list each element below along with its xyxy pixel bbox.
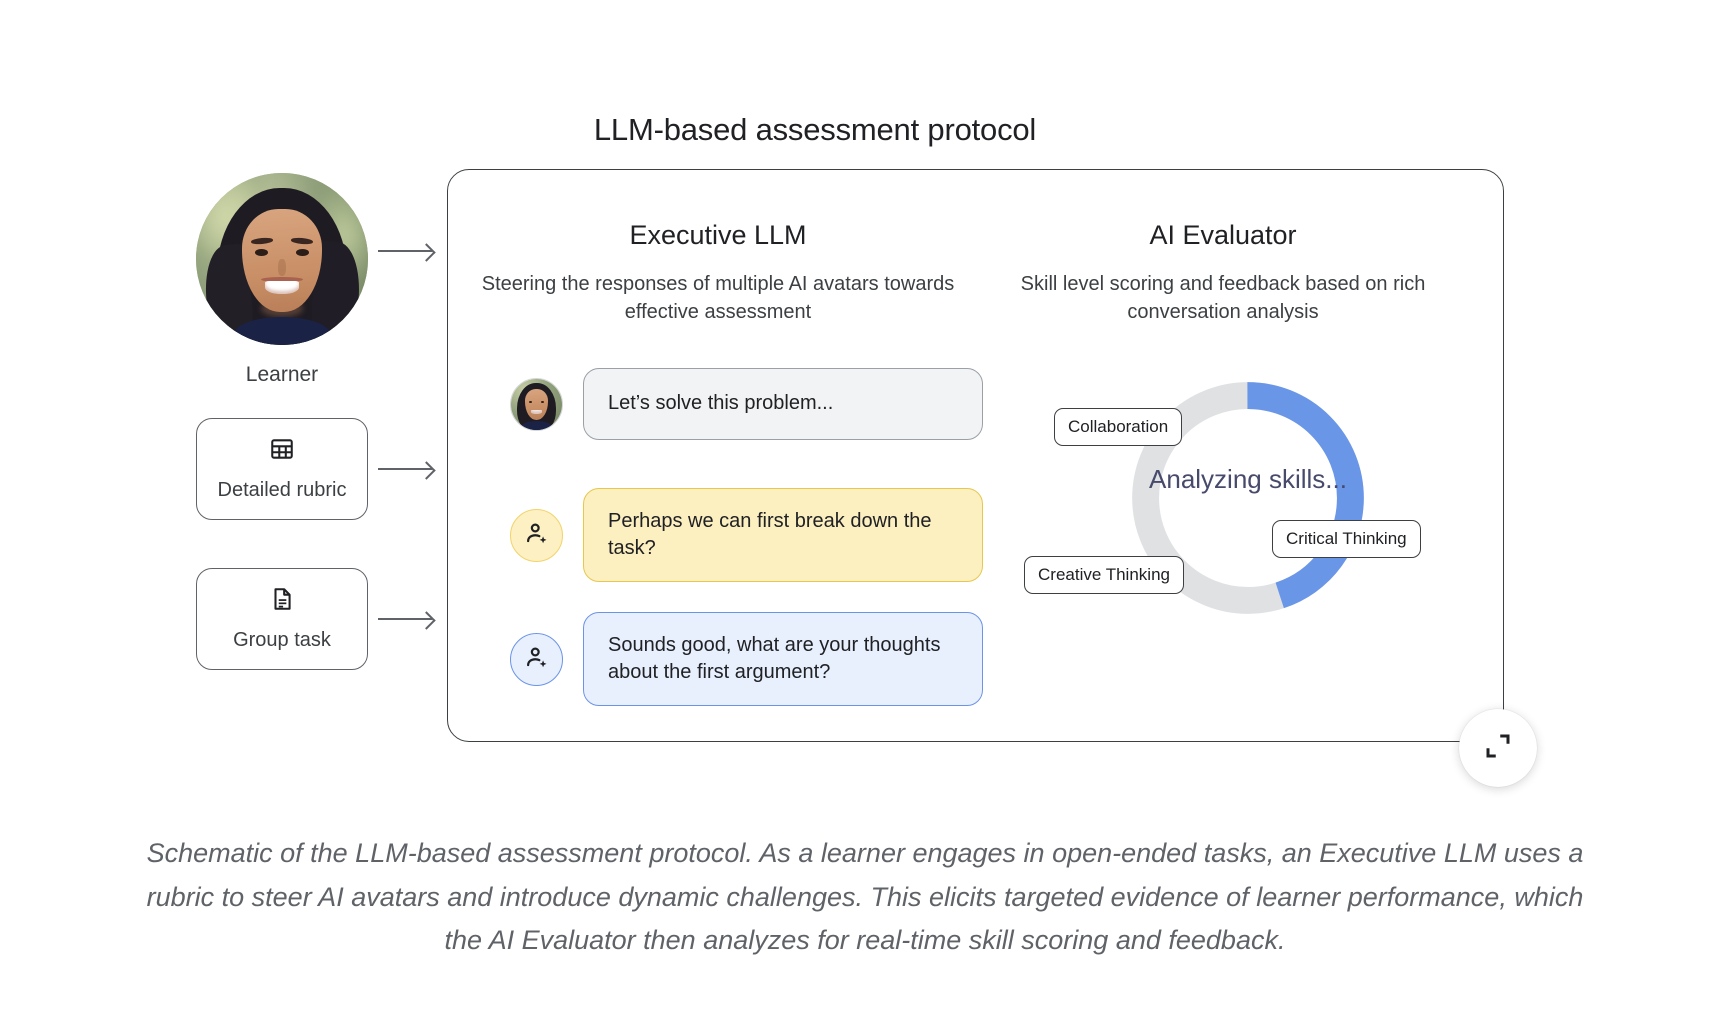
chat-message-row: Perhaps we can first break down the task…	[510, 488, 983, 582]
ai-evaluator-title: AI Evaluator	[978, 220, 1468, 251]
skill-chip-collaboration: Collaboration	[1054, 408, 1182, 446]
figure-title: LLM-based assessment protocol	[115, 112, 1515, 148]
donut-center-label: Analyzing skills...	[1120, 464, 1376, 496]
learner-photo-small-icon	[510, 378, 563, 431]
table-grid-icon	[269, 436, 295, 467]
skill-analysis-widget: Analyzing skills... Collaboration Critic…	[1020, 360, 1420, 660]
input-card-detailed-rubric[interactable]: Detailed rubric	[196, 418, 368, 520]
chat-message-row: Let’s solve this problem...	[510, 368, 983, 440]
figure-stage: LLM-based assessment protocol Learner	[0, 0, 1730, 790]
learner-label: Learner	[196, 363, 368, 387]
chat-bubble: Perhaps we can first break down the task…	[583, 488, 983, 582]
protocol-card: Executive LLM Steering the responses of …	[447, 169, 1504, 742]
skill-chip-creative-thinking: Creative Thinking	[1024, 556, 1184, 594]
learner-block: Learner	[196, 173, 368, 387]
input-card-group-task[interactable]: Group task	[196, 568, 368, 670]
input-card-label: Group task	[233, 629, 331, 652]
ai-evaluator-subtitle: Skill level scoring and feedback based o…	[978, 270, 1468, 327]
chat-bubble: Sounds good, what are your thoughts abou…	[583, 612, 983, 706]
skill-chip-critical-thinking: Critical Thinking	[1272, 520, 1421, 558]
expand-fullscreen-button[interactable]	[1459, 709, 1537, 787]
person-sparkle-icon	[510, 633, 563, 686]
chat-bubble: Let’s solve this problem...	[583, 368, 983, 440]
input-card-label: Detailed rubric	[218, 479, 347, 502]
expand-corners-icon	[1483, 731, 1513, 766]
executive-llm-title: Executive LLM	[488, 220, 948, 251]
figure-caption: Schematic of the LLM-based assessment pr…	[130, 832, 1600, 963]
chat-message-row: Sounds good, what are your thoughts abou…	[510, 612, 983, 706]
person-sparkle-icon	[510, 509, 563, 562]
learner-avatar-photo	[196, 173, 368, 345]
arrow-rubric-to-protocol	[378, 468, 432, 470]
arrow-learner-to-protocol	[378, 250, 432, 252]
executive-llm-subtitle: Steering the responses of multiple AI av…	[473, 270, 963, 327]
arrow-task-to-protocol	[378, 618, 432, 620]
document-icon	[269, 586, 295, 617]
